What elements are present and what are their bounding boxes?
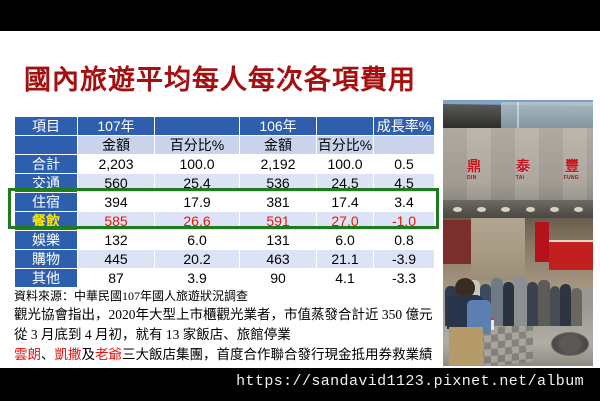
cell-pct_107: 26.6 — [155, 212, 239, 230]
queue-person — [571, 288, 582, 326]
cell-pct_107: 17.9 — [155, 193, 239, 211]
row-label-合計: 合計 — [15, 155, 77, 173]
cell-pct_107: 25.4 — [155, 174, 239, 192]
header-top-cell-1: 107年 — [78, 117, 154, 135]
row-label-其他: 其他 — [15, 269, 77, 287]
cell-amount_107: 585 — [78, 212, 154, 230]
cell-growth: 0.8 — [374, 231, 434, 249]
cell-pct_106: 100.0 — [317, 155, 373, 173]
watermark-url: https://sandavid1123.pixnet.net/album — [0, 373, 600, 390]
cell-amount_107: 132 — [78, 231, 154, 249]
table-row: 交通56025.453624.54.5 — [15, 174, 434, 192]
header-top-cell-4 — [317, 117, 373, 135]
cost-table: 項目107年106年成長率%金額百分比%金額百分比%合計2,203100.02,… — [14, 116, 435, 288]
photo-upper-windows — [501, 102, 593, 129]
sign-roman-3: FUNG — [564, 175, 579, 181]
queue-person — [527, 282, 538, 326]
row-label-娛樂: 娛樂 — [15, 231, 77, 249]
cell-amount_106: 131 — [240, 231, 316, 249]
photo-manhole-cover — [551, 332, 589, 356]
photo-ceiling-lights — [445, 204, 591, 214]
cell-growth: 4.5 — [374, 174, 434, 192]
hotel-group-royal: 老爺 — [95, 347, 122, 362]
header-top-cell-3: 106年 — [240, 117, 316, 135]
storefront-photo: 鼎 泰 豐 DIN TAI FUNG — [443, 100, 593, 366]
row-label-住宿: 住宿 — [15, 193, 77, 211]
queue-person — [514, 276, 527, 326]
cell-amount_107: 87 — [78, 269, 154, 287]
person-legs — [449, 327, 483, 366]
cell-amount_107: 2,203 — [78, 155, 154, 173]
header-top-cell-0: 項目 — [15, 117, 77, 135]
table-header-row-top: 項目107年106年成長率% — [15, 117, 434, 135]
cell-amount_106: 381 — [240, 193, 316, 211]
cell-growth: 3.4 — [374, 193, 434, 211]
cell-growth: 0.5 — [374, 155, 434, 173]
cell-amount_106: 591 — [240, 212, 316, 230]
queue-person — [538, 280, 550, 326]
sign-roman-2: TAI — [516, 175, 525, 181]
header-sub-cell-4: 百分比% — [317, 136, 373, 154]
cell-pct_106: 24.5 — [317, 174, 373, 192]
cell-pct_107: 20.2 — [155, 250, 239, 268]
cell-pct_106: 21.1 — [317, 250, 373, 268]
photo-foreground-person — [445, 278, 495, 366]
cell-pct_106: 6.0 — [317, 231, 373, 249]
cell-amount_106: 90 — [240, 269, 316, 287]
table-row: 餐飲58526.659127.0-1.0 — [15, 212, 434, 230]
source-note: 資料來源：中華民國107年國人旅遊狀況調查 — [14, 287, 434, 304]
header-sub-cell-3: 金額 — [240, 136, 316, 154]
table-row: 購物44520.246321.1-3.9 — [15, 250, 434, 268]
hotel-group-yunlong: 雲朗 — [14, 347, 41, 362]
cost-table-body: 項目107年106年成長率%金額百分比%金額百分比%合計2,203100.02,… — [15, 117, 434, 287]
cell-amount_107: 560 — [78, 174, 154, 192]
cell-amount_106: 463 — [240, 250, 316, 268]
note-line-3: 雲朗、凱撒及老爺三大飯店集團，首度合作聯合發行現金抵用券救業績 — [14, 345, 438, 365]
photo-store-sign-roman: DIN TAI FUNG — [467, 175, 579, 181]
header-top-cell-2 — [155, 117, 239, 135]
hotel-group-caesar: 凱撒 — [55, 347, 82, 362]
queue-person — [550, 286, 560, 326]
cell-amount_107: 394 — [78, 193, 154, 211]
note-line-2: 從 3 月底到 4 月初，就有 13 家飯店、旅館停業 — [14, 325, 438, 345]
table-row: 其他873.9904.1-3.3 — [15, 269, 434, 287]
header-sub-cell-1: 金額 — [78, 136, 154, 154]
sign-char-2: 泰 — [516, 156, 530, 176]
table-header-row-sub: 金額百分比%金額百分比% — [15, 136, 434, 154]
photo-left-shopfront — [443, 220, 471, 264]
header-sub-cell-0 — [15, 136, 77, 154]
cell-pct_106: 27.0 — [317, 212, 373, 230]
cell-amount_107: 445 — [78, 250, 154, 268]
sign-char-1: 鼎 — [467, 156, 481, 176]
cell-pct_106: 4.1 — [317, 269, 373, 287]
header-top-cell-5: 成長率% — [374, 117, 434, 135]
table-row: 住宿39417.938117.43.4 — [15, 193, 434, 211]
top-letterbox-band — [0, 0, 600, 31]
queue-person — [560, 284, 571, 326]
cost-table-container: 項目107年106年成長率%金額百分比%金額百分比%合計2,203100.02,… — [14, 116, 431, 288]
cell-pct_106: 17.4 — [317, 193, 373, 211]
commentary-notes: 觀光協會指出，2020年大型上市櫃觀光業者，市值蒸發合計近 350 億元 從 3… — [14, 305, 438, 365]
cell-amount_106: 536 — [240, 174, 316, 192]
cell-pct_107: 6.0 — [155, 231, 239, 249]
row-label-餐飲: 餐飲 — [15, 212, 77, 230]
note-line-3-tail: 三大飯店集團，首度合作聯合發行現金抵用券救業績 — [122, 347, 433, 362]
note-line-1: 觀光協會指出，2020年大型上市櫃觀光業者，市值蒸發合計近 350 億元 — [14, 305, 438, 325]
header-sub-cell-5 — [374, 136, 434, 154]
sign-roman-1: DIN — [467, 175, 477, 181]
row-label-交通: 交通 — [15, 174, 77, 192]
header-sub-cell-2: 百分比% — [155, 136, 239, 154]
cell-pct_107: 100.0 — [155, 155, 239, 173]
cell-amount_106: 2,192 — [240, 155, 316, 173]
sign-char-3: 豐 — [565, 156, 579, 176]
page-title: 國內旅遊平均每人每次各項費用 — [0, 58, 440, 97]
note-separator-1: 、 — [41, 347, 55, 362]
cell-growth: -1.0 — [374, 212, 434, 230]
note-conjunction: 及 — [82, 347, 96, 362]
row-label-購物: 購物 — [15, 250, 77, 268]
cell-growth: -3.9 — [374, 250, 434, 268]
cell-growth: -3.3 — [374, 269, 434, 287]
table-row: 合計2,203100.02,192100.00.5 — [15, 155, 434, 173]
table-row: 娛樂1326.01316.00.8 — [15, 231, 434, 249]
photo-red-banner — [535, 222, 549, 262]
cell-pct_107: 3.9 — [155, 269, 239, 287]
queue-person — [503, 282, 514, 326]
